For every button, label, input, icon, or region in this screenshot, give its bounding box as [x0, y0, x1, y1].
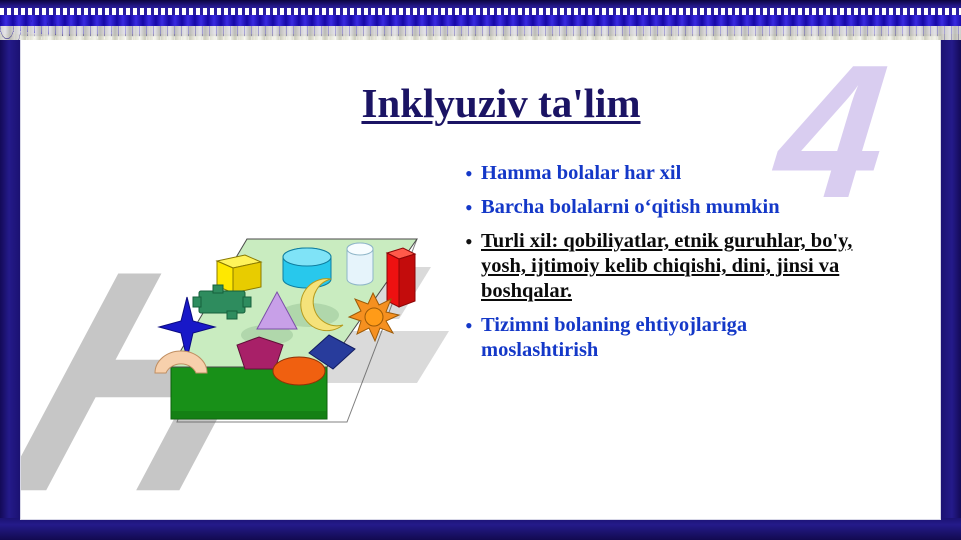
bullet-list: • Hamma bolalar har xil • Barcha bolalar… [465, 161, 865, 372]
list-item-label: Turli xil: qobiliyatlar, etnik guruhlar,… [481, 229, 865, 304]
list-item: • Turli xil: qobiliyatlar, etnik guruhla… [465, 229, 865, 304]
frame-bottom-border [0, 518, 961, 540]
bullet-marker-icon: • [465, 313, 481, 338]
frame-right-border [941, 0, 961, 540]
slide-canvas: 4 H [20, 36, 941, 520]
illustration-isometric-platform [131, 227, 461, 447]
list-item: • Hamma bolalar har xil [465, 161, 865, 186]
list-item: • Tizimni bolaning ehtiyojlariga moslash… [465, 313, 865, 363]
curtain-fringe-trim [0, 26, 961, 40]
decorative-curtain-border [0, 0, 961, 40]
bullet-marker-icon: • [465, 161, 481, 186]
list-item-label: Tizimni bolaning ehtiyojlariga moslashti… [481, 313, 865, 363]
list-item: • Barcha bolalarni o‘qitish mumkin [465, 195, 865, 220]
slide-root: 4 H [0, 0, 961, 540]
list-item-label: Barcha bolalarni o‘qitish mumkin [481, 195, 780, 220]
curtain-bead-trim [0, 8, 961, 15]
bullet-marker-icon: • [465, 229, 481, 254]
page-title: Inklyuziv ta'lim [301, 79, 701, 127]
list-item-label: Hamma bolalar har xil [481, 161, 681, 186]
frame-left-border [0, 0, 20, 540]
bullet-marker-icon: • [465, 195, 481, 220]
